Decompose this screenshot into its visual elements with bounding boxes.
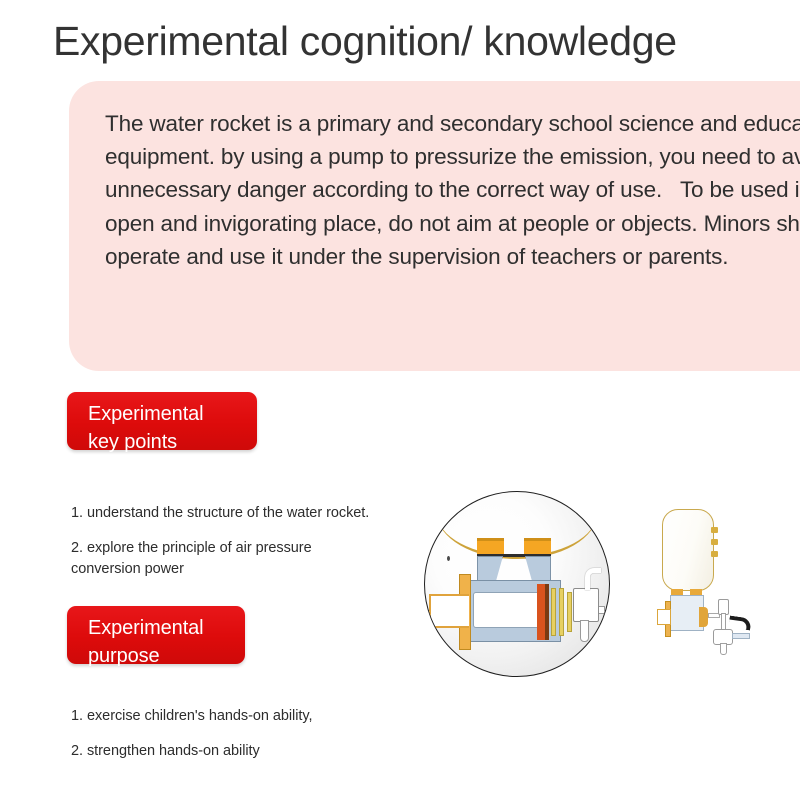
valve-spring-plate-c <box>567 592 572 632</box>
page-title: Experimental cognition/ knowledge <box>53 16 677 66</box>
bottle-clip-tab <box>711 539 718 545</box>
list-item: 1. exercise children's hands-on ability, <box>71 706 401 727</box>
pressure-bottle <box>662 509 714 591</box>
speck-mark <box>447 556 450 561</box>
bottle-clip-tab <box>711 527 718 533</box>
valve-inlet-tube <box>429 594 469 628</box>
badge-line-1: Experimental <box>88 400 237 428</box>
section-badge-experimental-purpose[interactable]: Experimental purpose <box>67 606 245 664</box>
section-badge-experimental-key-points[interactable]: Experimental key points <box>67 392 257 450</box>
water-rocket-valve-cutaway-image <box>424 491 610 677</box>
water-rocket-assembly-image <box>657 509 749 659</box>
intro-card-body: The water rocket is a primary and second… <box>105 107 800 273</box>
valve-neck-right <box>525 556 551 582</box>
valve-seal-dark <box>545 584 549 640</box>
assembly-seal <box>699 607 708 627</box>
assembly-pump-handle <box>728 616 751 631</box>
bottle-clip-tab <box>711 551 718 557</box>
badge-line-1: Experimental <box>88 614 225 642</box>
pump-hook <box>585 568 601 590</box>
badge-line-2: key points <box>88 428 237 456</box>
assembly-inlet-tube <box>657 609 671 625</box>
valve-bore-channel <box>473 592 543 628</box>
assembly-pump-stem <box>720 643 727 655</box>
valve-neck-left <box>477 556 503 582</box>
list-item: 2. strengthen hands-on ability <box>71 741 401 762</box>
bottle-shoulder-shape <box>437 491 597 559</box>
list-item: 1. understand the structure of the water… <box>71 503 401 524</box>
valve-spring-plate-b <box>559 588 564 636</box>
intro-card: The water rocket is a primary and second… <box>69 81 800 371</box>
badge-line-2: purpose <box>88 642 225 670</box>
purpose-list: 1. exercise children's hands-on ability,… <box>71 706 401 762</box>
valve-spring-plate-a <box>551 588 556 636</box>
valve-seal-red <box>537 584 545 640</box>
list-item: 2. explore the principle of air pressure… <box>71 538 401 580</box>
key-points-list: 1. understand the structure of the water… <box>71 503 401 580</box>
pump-stem <box>580 620 589 642</box>
assembly-nozzle <box>732 633 750 639</box>
pump-connector-block <box>573 588 599 622</box>
